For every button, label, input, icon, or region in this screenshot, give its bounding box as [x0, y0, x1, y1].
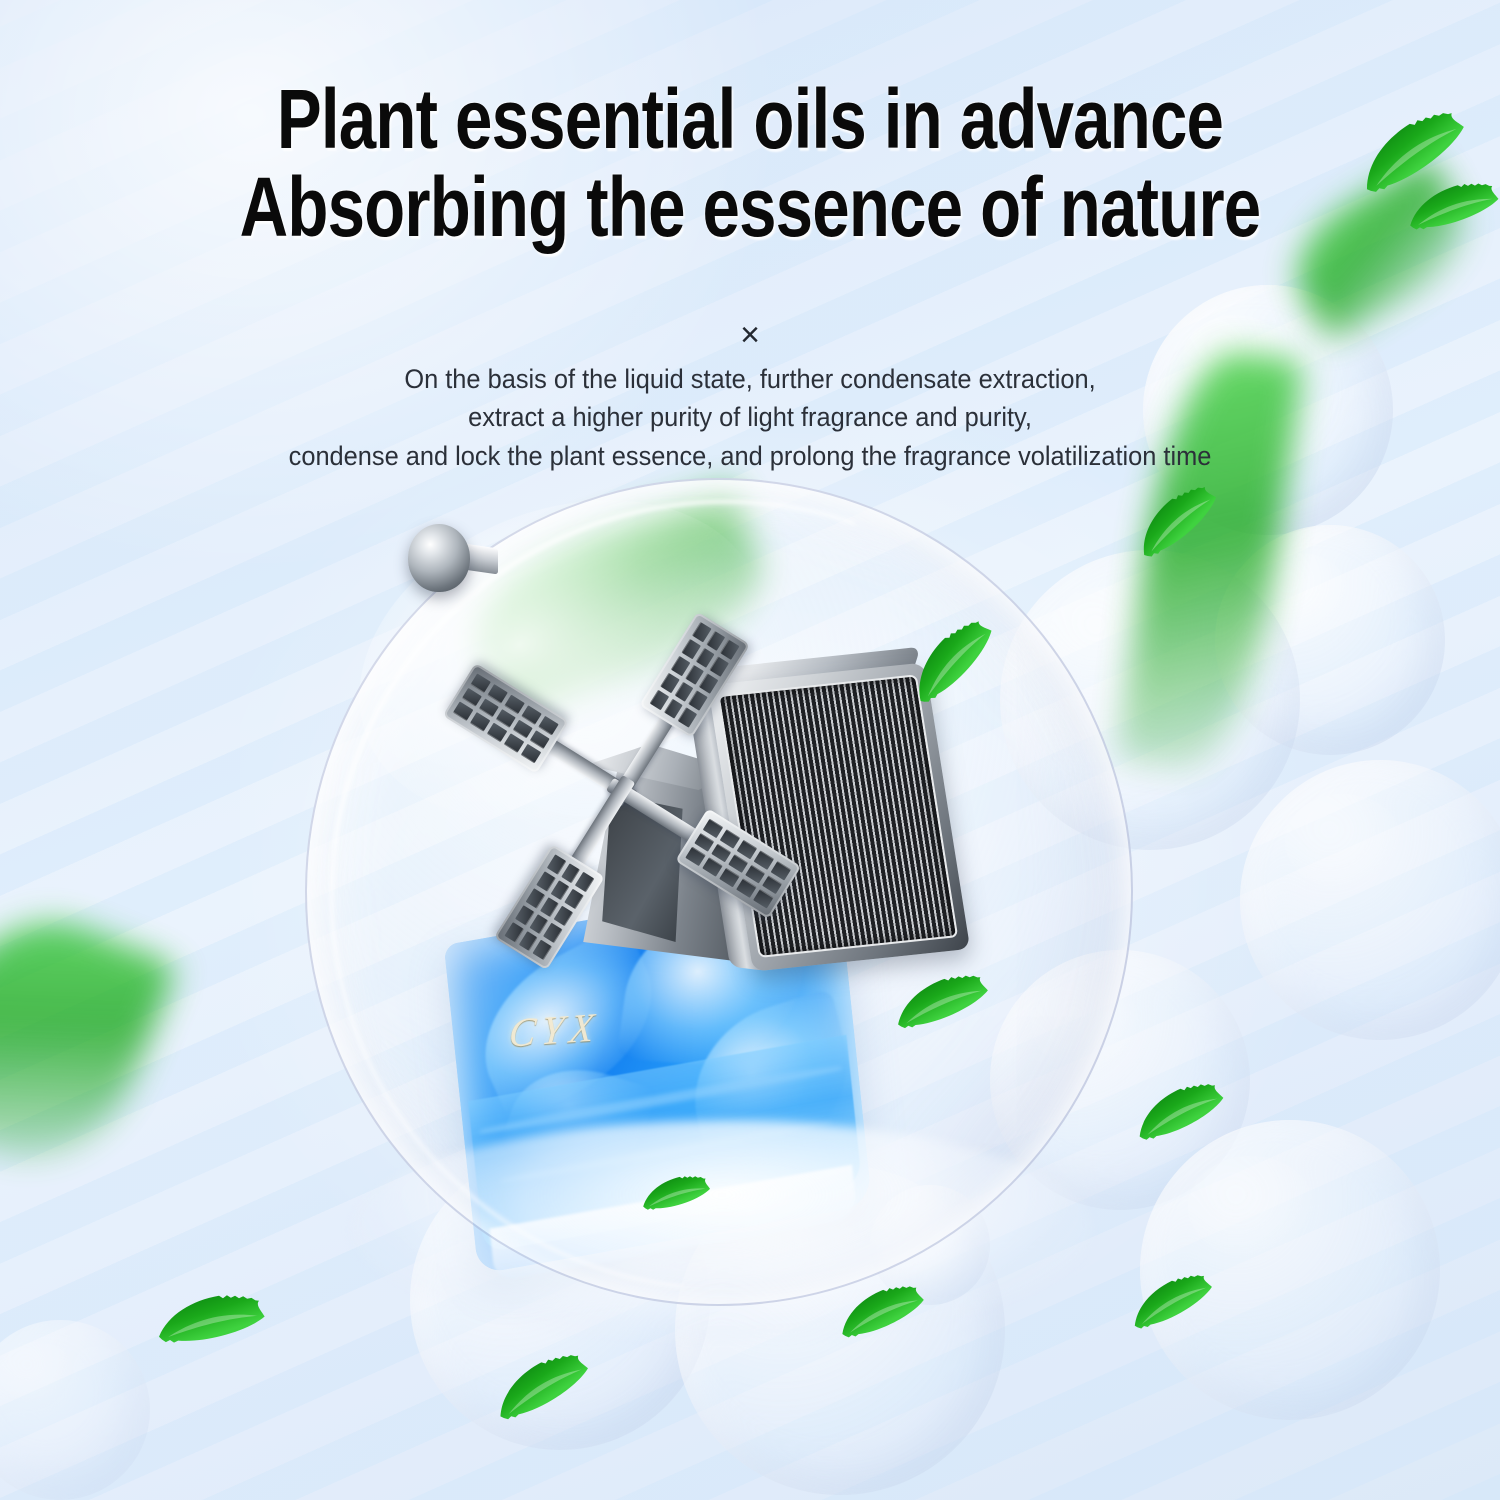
bubble-2 — [1215, 525, 1445, 755]
bubble-8 — [1140, 1120, 1440, 1420]
bubble-10 — [0, 1320, 150, 1500]
x-divider-icon: × — [0, 316, 1500, 355]
description-text: On the basis of the liquid state, furthe… — [45, 360, 1455, 475]
description-line-3: condense and lock the plant essence, and… — [45, 437, 1455, 475]
description-line-2: extract a higher purity of light fragran… — [45, 398, 1455, 436]
leaf-bottom-center — [485, 1342, 595, 1429]
headline-line-2: Absorbing the essence of nature — [150, 166, 1350, 248]
leaf-right-upper — [1126, 475, 1224, 566]
bubble-4 — [1240, 760, 1500, 1040]
headline-line-1: Plant essential oils in advance — [150, 78, 1350, 160]
glass-sphere — [305, 478, 1133, 1306]
leaf-bottom-right — [1122, 1264, 1217, 1336]
leaf-top-right-2 — [1401, 173, 1500, 237]
product-banner: CYX — [0, 0, 1500, 1500]
page-title: Plant essential oils in advance Absorbin… — [150, 78, 1350, 249]
leaf-blur-left — [0, 891, 178, 1188]
leaf-top-right-1 — [1347, 97, 1472, 202]
leaf-right-lower — [1127, 1072, 1230, 1148]
leaf-bottom-left — [151, 1286, 269, 1350]
description-line-1: On the basis of the liquid state, furthe… — [45, 360, 1455, 398]
